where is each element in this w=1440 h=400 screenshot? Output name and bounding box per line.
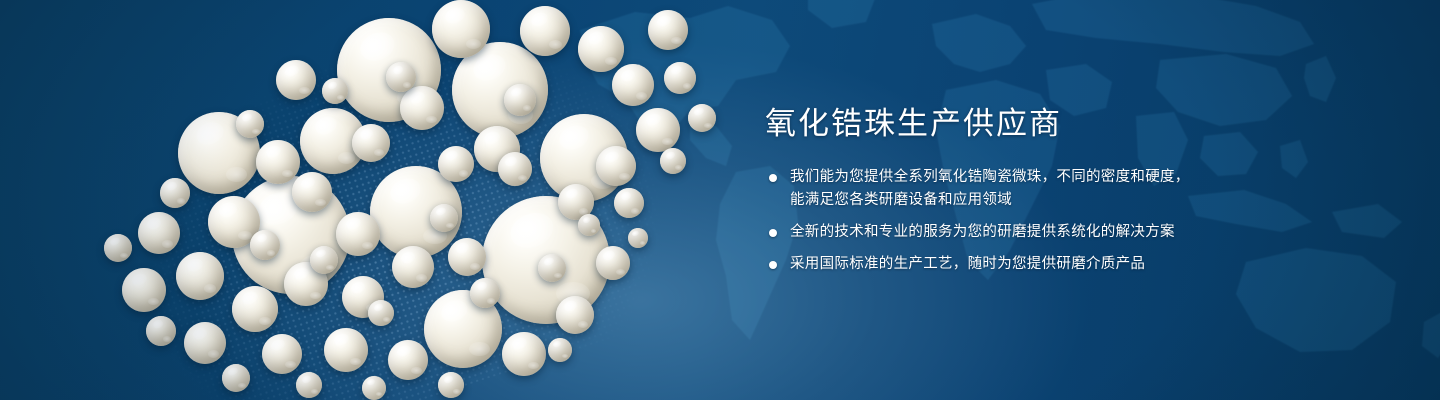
list-item: 采用国际标准的生产工艺，随时为您提供研磨介质产品 <box>765 253 1405 276</box>
list-item-line: 能满足您各类研磨设备和应用领域 <box>790 189 1405 212</box>
list-item-line: 全新的技术和专业的服务为您的研磨提供系统化的解决方案 <box>790 221 1405 244</box>
bullet-dot-icon <box>769 229 777 237</box>
feature-list: 我们能为您提供全系列氧化锆陶瓷微珠，不同的密度和硬度， 能满足您各类研磨设备和应… <box>765 166 1405 276</box>
list-item-line: 采用国际标准的生产工艺，随时为您提供研磨介质产品 <box>790 253 1405 276</box>
bullet-dot-icon <box>769 174 777 182</box>
list-item-line: 我们能为您提供全系列氧化锆陶瓷微珠，不同的密度和硬度， <box>790 166 1405 189</box>
list-item: 全新的技术和专业的服务为您的研磨提供系统化的解决方案 <box>765 221 1405 244</box>
page-title: 氧化锆珠生产供应商 <box>765 104 1405 144</box>
bullet-dot-icon <box>769 261 777 269</box>
hero-banner: 氧化锆珠生产供应商 我们能为您提供全系列氧化锆陶瓷微珠，不同的密度和硬度， 能满… <box>0 0 1440 400</box>
list-item: 我们能为您提供全系列氧化锆陶瓷微珠，不同的密度和硬度， 能满足您各类研磨设备和应… <box>765 166 1405 212</box>
banner-copy: 氧化锆珠生产供应商 我们能为您提供全系列氧化锆陶瓷微珠，不同的密度和硬度， 能满… <box>765 104 1405 276</box>
